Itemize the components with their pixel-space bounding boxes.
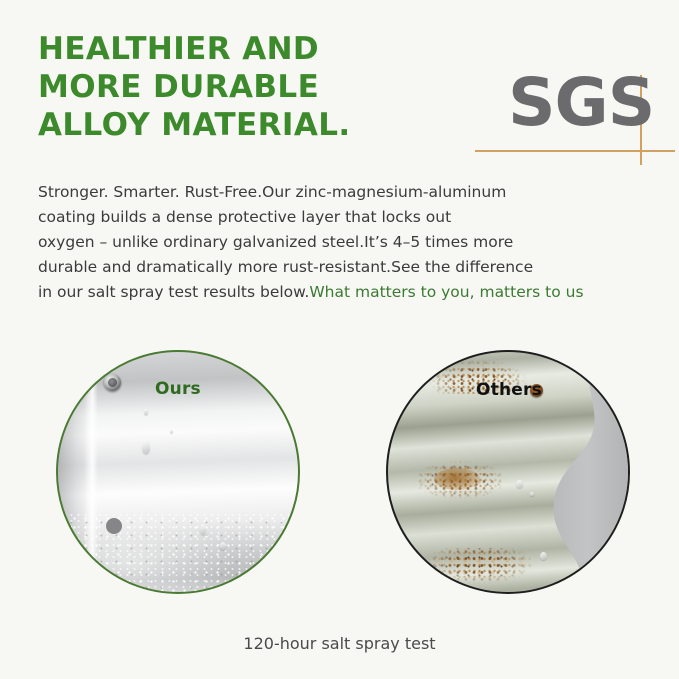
water-droplet [220,542,226,550]
water-droplet [530,492,534,496]
water-droplet [516,480,523,488]
body-copy: Stronger. Smarter. Rust-Free.Our zinc-ma… [38,180,648,305]
ours-sample-disc: Ours [56,350,300,594]
body-line-4: durable and dramatically more rust-resis… [38,255,648,280]
gray-spot-mark [106,518,122,534]
water-droplet [540,552,547,560]
promo-banner: HEALTHIER AND MORE DURABLE ALLOY MATERIA… [0,0,679,679]
rust-core-middle [434,468,480,490]
body-line-5-plain: in our salt spray test results below. [38,283,309,301]
sgs-wordmark: SGS [508,70,654,136]
body-line-5: in our salt spray test results below.Wha… [38,280,648,305]
tagline: What matters to you, matters to us [309,283,583,301]
water-droplet [200,524,206,535]
ours-label: Ours [155,379,201,399]
body-line-3: oxygen – unlike ordinary galvanized stee… [38,230,648,255]
others-gray-region [544,352,630,592]
bolt-icon [104,374,121,391]
rust-patch-bottom [414,548,544,592]
headline-line-3: ALLOY MATERIAL. [38,106,438,144]
water-droplet [144,409,148,415]
others-label: Others [476,380,542,400]
water-droplet [142,440,150,454]
test-caption: 120-hour salt spray test [0,634,679,653]
water-droplet [170,430,173,433]
sgs-logo: SGS [470,62,675,170]
comparison-section: Ours Others [0,350,679,600]
others-sample-disc: Others [386,350,630,594]
headline-line-2: MORE DURABLE [38,68,438,106]
body-line-1: Stronger. Smarter. Rust-Free.Our zinc-ma… [38,180,648,205]
water-mist-texture [58,514,298,592]
sgs-horizontal-rule [475,150,675,152]
headline-line-1: HEALTHIER AND [38,30,438,68]
body-line-2: coating builds a dense protective layer … [38,205,648,230]
page-title: HEALTHIER AND MORE DURABLE ALLOY MATERIA… [38,30,438,144]
